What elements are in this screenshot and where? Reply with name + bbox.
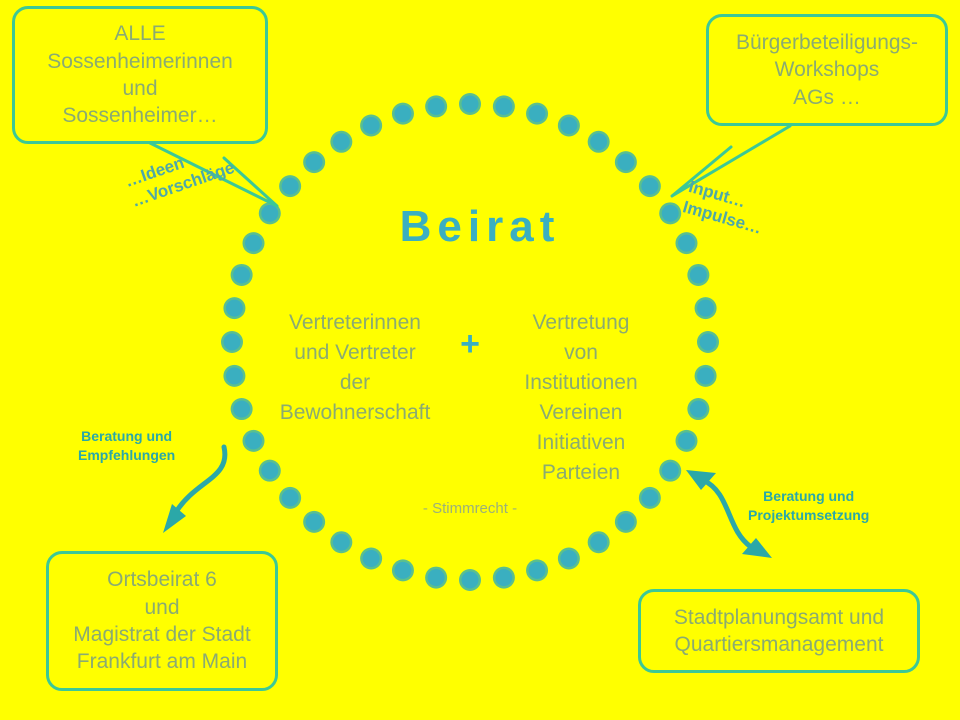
- bubble-citizens-text: ALLE Sossenheimerinnen und Sossenheimer…: [47, 20, 233, 129]
- bubble-citizens-line-1: ALLE: [47, 20, 233, 47]
- ring-dot: [428, 98, 445, 115]
- label-left-flow-line-1: Beratung und: [78, 427, 175, 446]
- label-ideen-vorschlaege: …Ideen …Vorschläge: [122, 137, 237, 212]
- ring-dot: [261, 462, 278, 479]
- label-beratung-empfehlungen: Beratung und Empfehlungen: [78, 427, 175, 465]
- ring-dot: [245, 432, 262, 449]
- bubble-workshops-line-2: Workshops: [736, 56, 918, 83]
- ring-dot: [462, 96, 479, 113]
- ring-dot: [495, 569, 512, 586]
- ring-dot: [641, 489, 658, 506]
- ring-dot: [224, 334, 241, 351]
- ring-dot: [590, 534, 607, 551]
- flow-arrow-left: [176, 447, 225, 512]
- ring-dot: [700, 334, 717, 351]
- box-ortsbeirat-line-3: Magistrat der Stadt: [73, 621, 250, 648]
- label-beratung-projektumsetzung: Beratung und Projektumsetzung: [748, 487, 869, 525]
- ring-dot: [306, 154, 323, 171]
- ring-dot: [529, 105, 546, 122]
- ring-dot: [428, 569, 445, 586]
- page-title: Beirat: [0, 202, 960, 252]
- box-ortsbeirat-line-4: Frankfurt am Main: [73, 648, 250, 675]
- center-right-line-4: Vereinen: [488, 398, 674, 428]
- ring-dot: [617, 513, 634, 530]
- ring-dot: [697, 367, 714, 384]
- ring-dot: [678, 432, 695, 449]
- ring-dot: [560, 550, 577, 567]
- ring-dot: [462, 572, 479, 589]
- center-left-line-3: der: [262, 368, 448, 398]
- ring-dot: [333, 133, 350, 150]
- box-stadtplanung-line-1: Stadtplanungsamt und: [674, 604, 884, 631]
- center-left-line-2: und Vertreter: [262, 338, 448, 368]
- ring-dot: [306, 513, 323, 530]
- box-stadtplanung-text: Stadtplanungsamt und Quartiersmanagement: [674, 604, 884, 659]
- flow-arrow-left-head: [163, 504, 186, 533]
- bubble-citizens-line-2: Sossenheimerinnen: [47, 48, 233, 75]
- box-ortsbeirat-line-2: und: [73, 594, 250, 621]
- center-column-left: Vertreterinnen und Vertreter der Bewohne…: [262, 308, 448, 428]
- box-ortsbeirat-line-1: Ortsbeirat 6: [73, 566, 250, 593]
- ring-dot: [363, 117, 380, 134]
- ring-dot: [697, 300, 714, 317]
- box-stadtplanung-line-2: Quartiersmanagement: [674, 631, 884, 658]
- ring-dot: [590, 133, 607, 150]
- ring-dot: [333, 534, 350, 551]
- ring-dot: [641, 178, 658, 195]
- ring-dot: [690, 266, 707, 283]
- bubble-workshops-line-1: Bürgerbeteiligungs-: [736, 29, 918, 56]
- label-right-flow-line-1: Beratung und: [748, 487, 869, 506]
- ring-dot: [394, 105, 411, 122]
- ring-dot: [690, 401, 707, 418]
- ring-dot: [282, 489, 299, 506]
- ring-dot: [226, 300, 243, 317]
- ring-dot: [226, 367, 243, 384]
- ring-dot: [363, 550, 380, 567]
- center-column-right: Vertretung von Institutionen Vereinen In…: [488, 308, 674, 488]
- center-left-line-1: Vertreterinnen: [262, 308, 448, 338]
- bubble-citizens-line-3: und: [47, 75, 233, 102]
- center-right-line-3: Institutionen: [488, 368, 674, 398]
- flow-arrow-right-head-up: [686, 470, 716, 490]
- ring-dot: [495, 98, 512, 115]
- center-left-line-4: Bewohnerschaft: [262, 398, 448, 428]
- label-left-flow-line-2: Empfehlungen: [78, 446, 175, 465]
- ring-dot: [560, 117, 577, 134]
- bubble-workshops: Bürgerbeteiligungs- Workshops AGs …: [706, 14, 948, 126]
- ring-dot: [529, 562, 546, 579]
- footnote-stimmrecht: - Stimmrecht -: [330, 500, 610, 517]
- bubble-citizens-line-4: Sossenheimer…: [47, 102, 233, 129]
- bubble-workshops-line-3: AGs …: [736, 84, 918, 111]
- center-right-line-1: Vertretung: [488, 308, 674, 338]
- box-stadtplanung: Stadtplanungsamt und Quartiersmanagement: [638, 589, 920, 673]
- flow-arrow-right-head-down: [742, 538, 772, 558]
- flow-arrow-right: [703, 480, 751, 547]
- center-right-line-6: Parteien: [488, 458, 674, 488]
- ring-dot: [233, 266, 250, 283]
- ring-dot: [282, 178, 299, 195]
- diagram-canvas: ALLE Sossenheimerinnen und Sossenheimer……: [0, 0, 960, 720]
- ring-dot: [233, 401, 250, 418]
- bubble-citizens: ALLE Sossenheimerinnen und Sossenheimer…: [12, 6, 268, 144]
- label-right-flow-line-2: Projektumsetzung: [748, 506, 869, 525]
- center-right-line-5: Initiativen: [488, 428, 674, 458]
- ring-dot: [617, 154, 634, 171]
- center-right-line-2: von: [488, 338, 674, 368]
- plus-sign: +: [448, 327, 492, 361]
- ring-dot: [394, 562, 411, 579]
- box-ortsbeirat-text: Ortsbeirat 6 und Magistrat der Stadt Fra…: [73, 566, 250, 675]
- bubble-workshops-text: Bürgerbeteiligungs- Workshops AGs …: [736, 29, 918, 111]
- box-ortsbeirat: Ortsbeirat 6 und Magistrat der Stadt Fra…: [46, 551, 278, 691]
